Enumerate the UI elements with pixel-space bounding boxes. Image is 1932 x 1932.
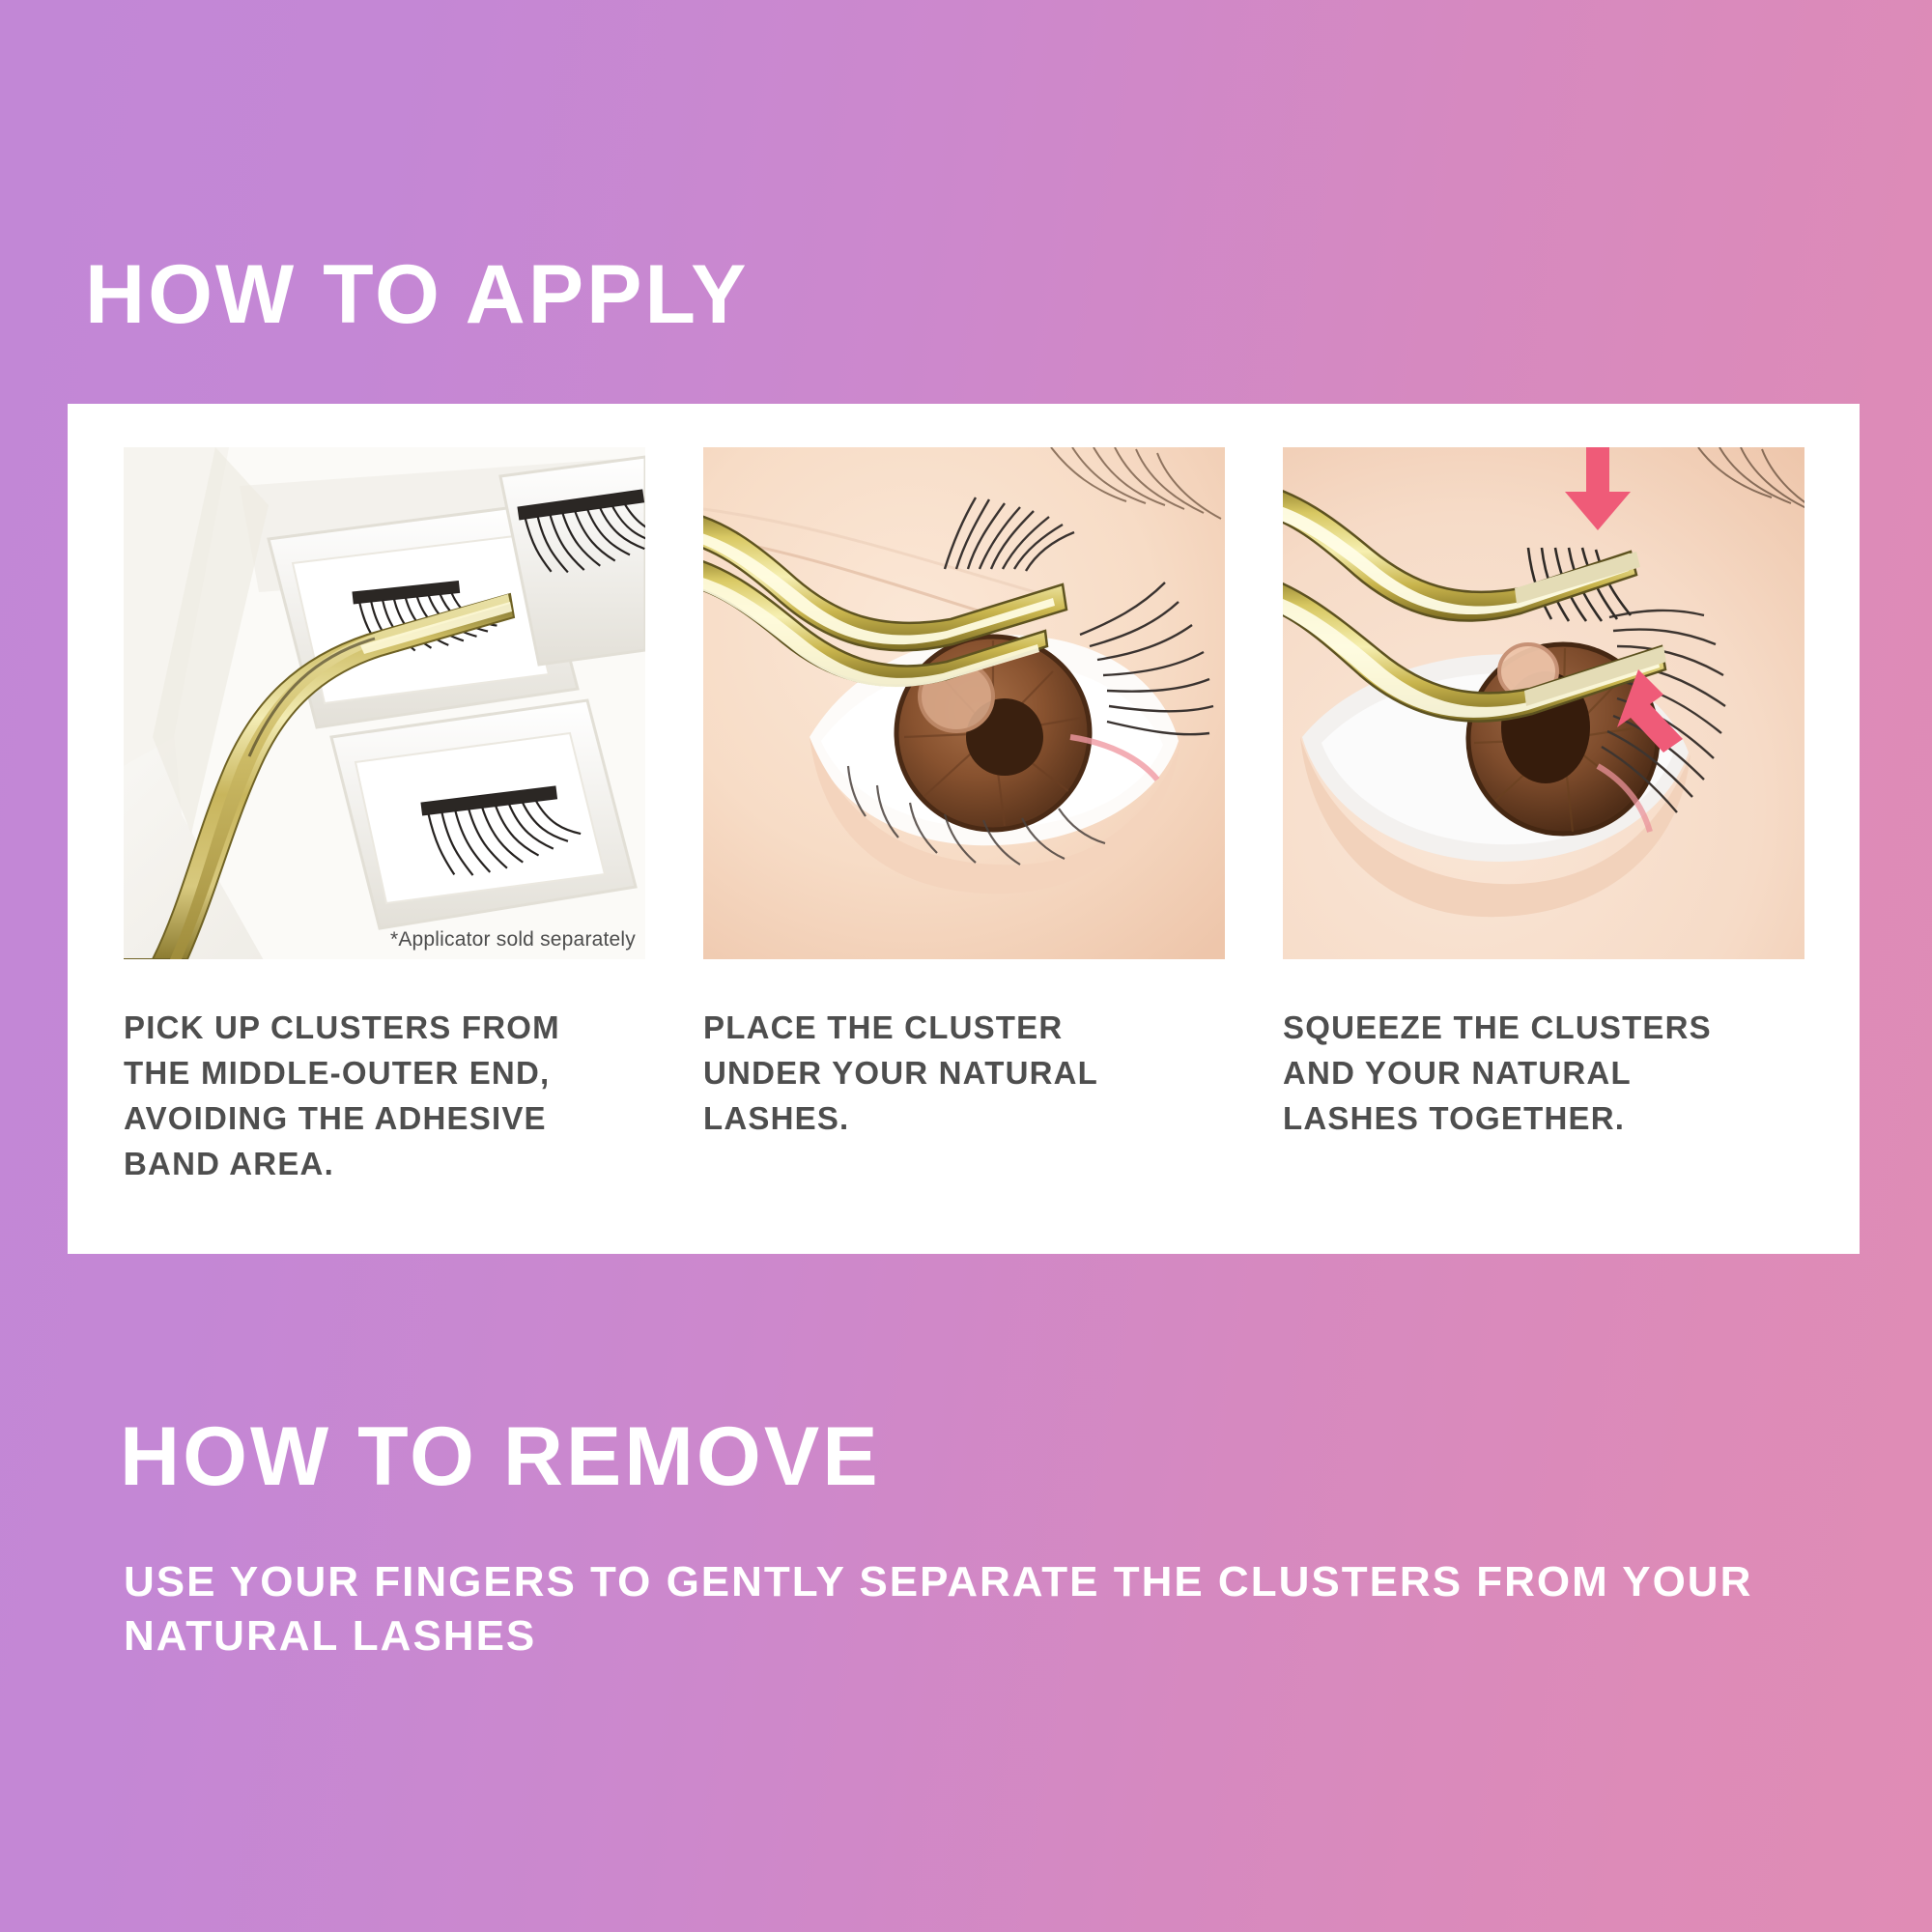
apply-steps-card: *Applicator sold separately PICK UP CLUS… [68,404,1860,1254]
step-1-caption: PICK UP CLUSTERS FROM THE MIDDLE-OUTER E… [124,1006,645,1186]
step-3-photo [1283,447,1804,959]
section-title-how-to-remove: HOW TO REMOVE [120,1415,881,1498]
page-title-how-to-apply: HOW TO APPLY [85,253,749,336]
step-3-caption: SQUEEZE THE CLUSTERS AND YOUR NATURAL LA… [1283,1006,1804,1142]
apply-step-2: PLACE THE CLUSTER UNDER YOUR NATURAL LAS… [703,447,1225,1186]
apply-step-1: *Applicator sold separately PICK UP CLUS… [124,447,645,1186]
step-2-photo [703,447,1225,959]
step-1-photo: *Applicator sold separately [124,447,645,959]
step-2-caption: PLACE THE CLUSTER UNDER YOUR NATURAL LAS… [703,1006,1225,1142]
apply-steps-row: *Applicator sold separately PICK UP CLUS… [124,447,1804,1186]
apply-step-3: SQUEEZE THE CLUSTERS AND YOUR NATURAL LA… [1283,447,1804,1186]
remove-instructions: USE YOUR FINGERS TO GENTLY SEPARATE THE … [124,1555,1766,1664]
applicator-note: *Applicator sold separately [390,928,636,952]
